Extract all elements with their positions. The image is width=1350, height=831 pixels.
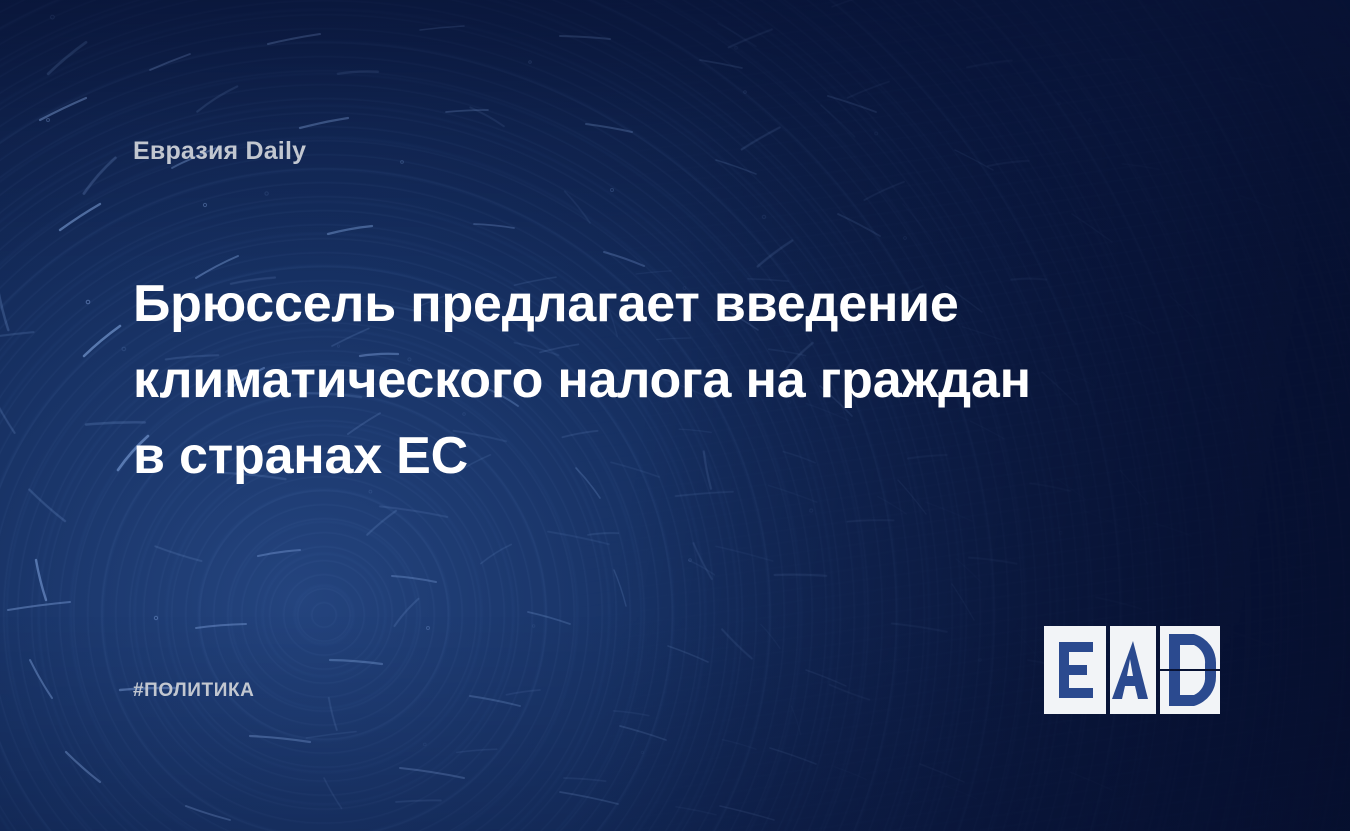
headline-line-1: Брюссель предлагает введение	[133, 266, 1123, 342]
eadaily-logo[interactable]	[1044, 626, 1220, 714]
article-card: Евразия Daily Брюссель предлагает введен…	[0, 0, 1350, 831]
category-tag[interactable]: #ПОЛИТИКА	[133, 680, 255, 702]
page-title: Брюссель предлагает введение климатическ…	[133, 266, 1123, 494]
brand-name: Евразия Daily	[133, 137, 306, 166]
headline-line-2: климатического налога на граждан	[133, 342, 1123, 418]
card-content: Евразия Daily Брюссель предлагает введен…	[0, 0, 1350, 831]
headline-line-3: в странах ЕС	[133, 418, 1123, 494]
